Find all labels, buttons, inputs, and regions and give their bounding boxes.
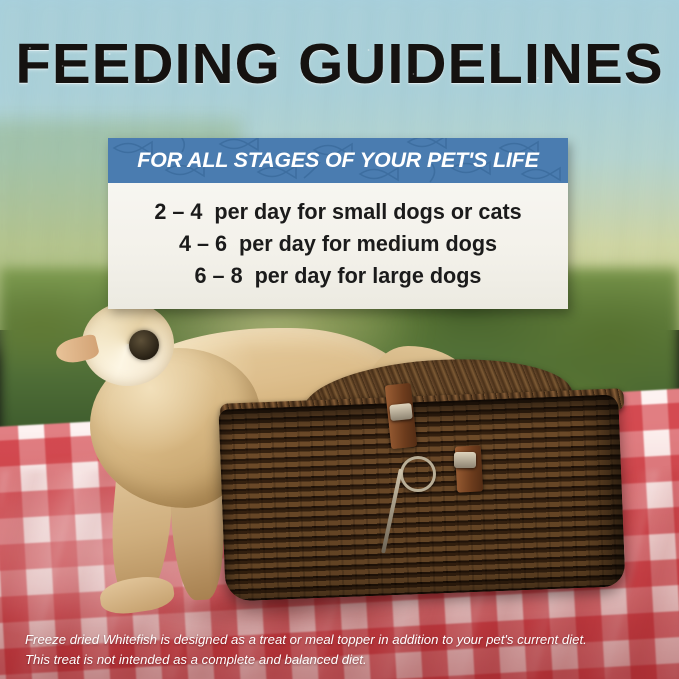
basket-latch-ring (400, 456, 436, 492)
page-title: FEEDING GUIDELINES (0, 36, 679, 93)
picnic-basket-icon (222, 360, 642, 600)
dosage-line-large: 6 – 8 per day for large dogs (117, 260, 559, 292)
disclaimer-line-1: Freeze dried Whitefish is designed as a … (25, 630, 655, 650)
feeding-info-card: FOR ALL STAGES OF YOUR PET'S LIFE 2 – 4 … (108, 138, 568, 309)
dosage-line-medium: 4 – 6 per day for medium dogs (117, 228, 559, 260)
card-banner: FOR ALL STAGES OF YOUR PET'S LIFE (108, 138, 568, 183)
dosage-line-small: 2 – 4 per day for small dogs or cats (117, 196, 559, 228)
dog-tail-curl-gap (129, 330, 159, 360)
disclaimer: Freeze dried Whitefish is designed as a … (25, 630, 655, 671)
photo-background (0, 0, 679, 679)
page-title-wrap: FEEDING GUIDELINES (15, 36, 663, 93)
card-body: 2 – 4 per day for small dogs or cats 4 –… (108, 183, 568, 309)
basket-buckle-mid (454, 452, 476, 468)
basket-body (218, 394, 625, 601)
card-banner-text: FOR ALL STAGES OF YOUR PET'S LIFE (137, 148, 538, 173)
feeding-guidelines-graphic: FEEDING GUIDELINES (0, 0, 679, 679)
disclaimer-line-2: This treat is not intended as a complete… (25, 650, 655, 670)
basket-buckle-left (389, 403, 413, 421)
page-title-text: FEEDING GUIDELINES (15, 32, 663, 96)
